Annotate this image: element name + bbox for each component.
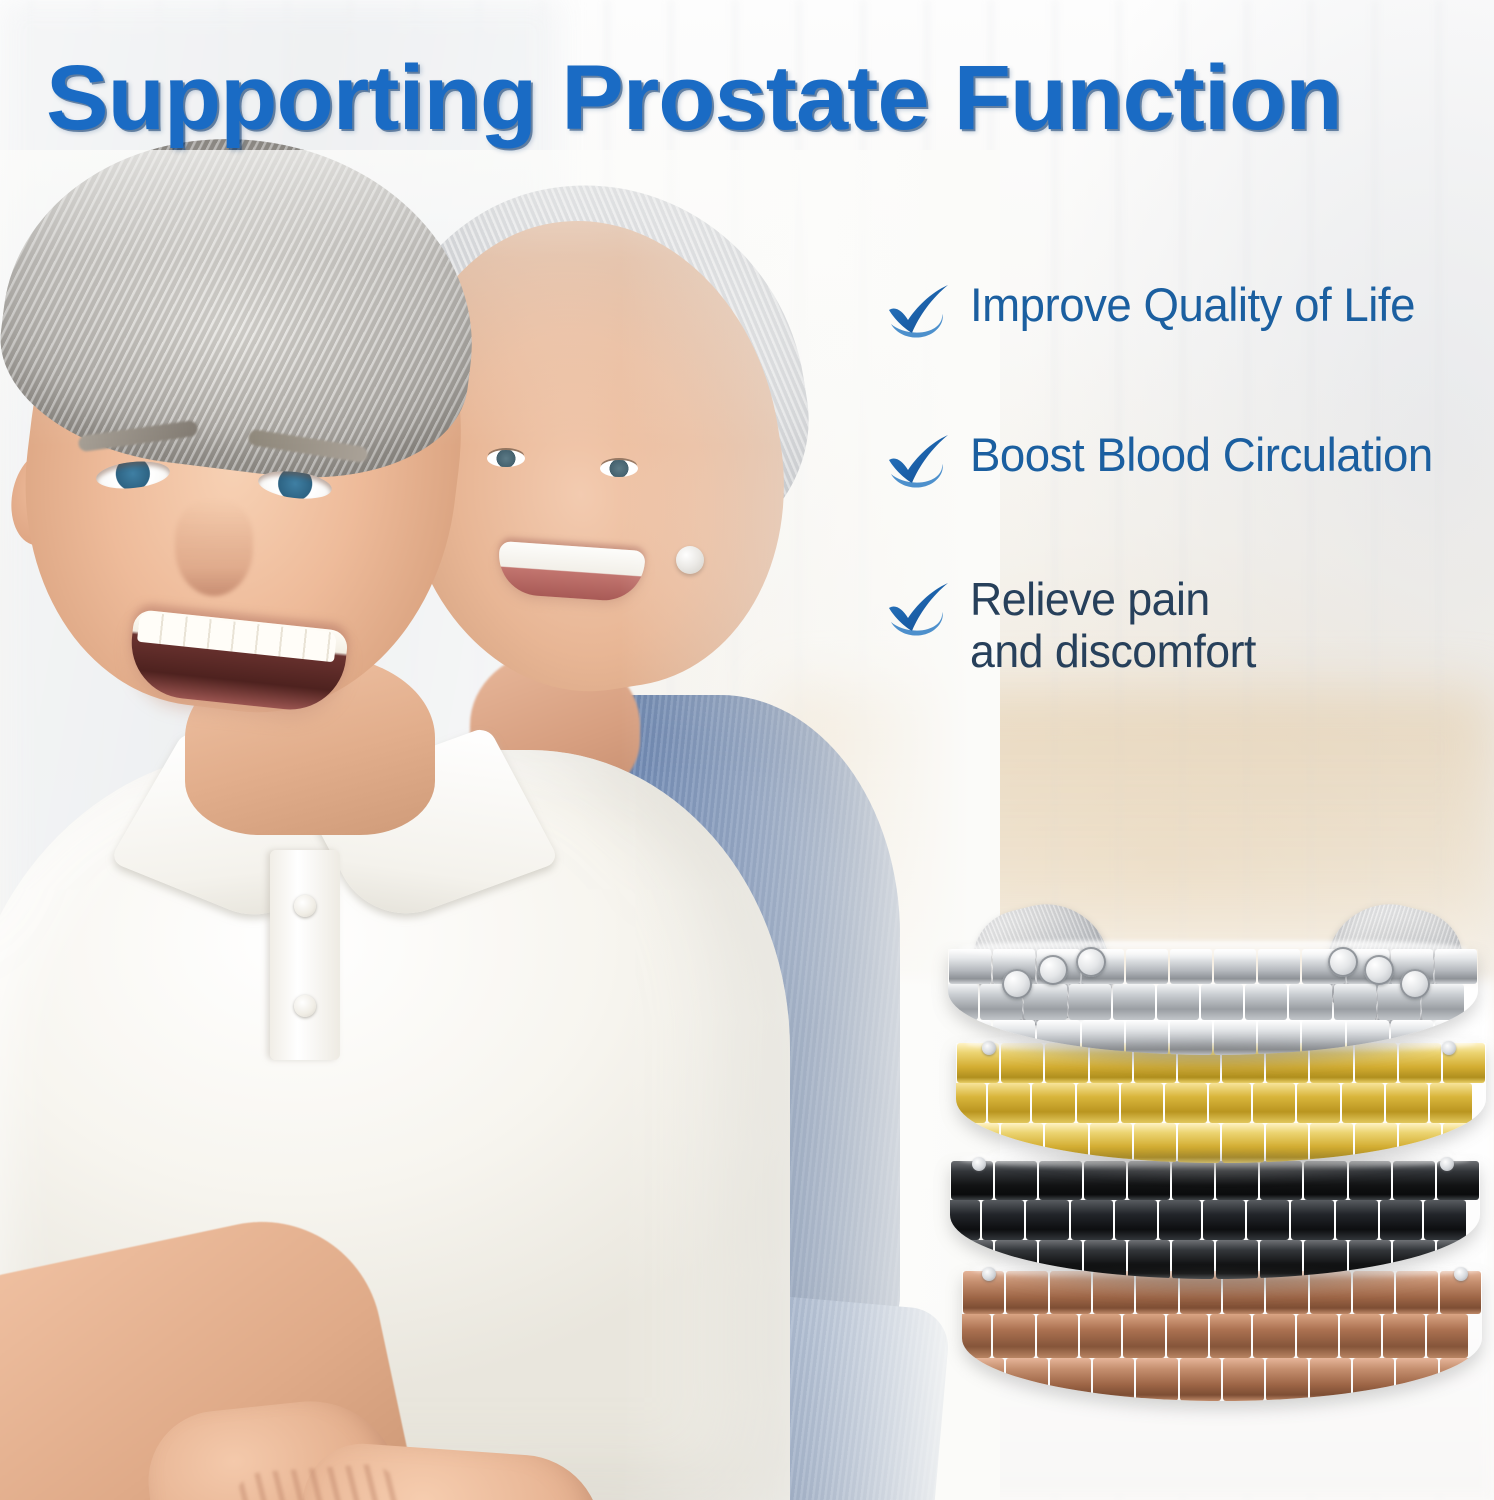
link [1336,1200,1378,1239]
link [1093,1358,1134,1401]
page-title: Supporting Prostate Function [46,52,1494,144]
man-shirt-button [294,895,316,917]
link [949,949,991,984]
man-nose [175,500,253,596]
link [1203,1200,1245,1239]
link-row [950,1200,1467,1239]
magnet-disc [1400,969,1430,999]
link-row [956,1083,1473,1123]
link [1435,949,1477,984]
link [950,1200,980,1239]
woman-eye-left [487,450,525,467]
link [1291,1200,1333,1239]
link [1032,1083,1074,1123]
drop-shadow [978,1043,1448,1069]
drop-shadow [986,1155,1456,1181]
link [1071,1200,1113,1239]
link [1201,984,1243,1019]
senior-couple-photo [0,150,980,1500]
link [1180,1358,1221,1401]
link [1165,1083,1207,1123]
benefit-label: Boost Blood Circulation [970,428,1433,480]
link [1386,1083,1428,1123]
magnet-disc [1328,947,1358,977]
link [1157,984,1199,1019]
link [1069,984,1111,1019]
link [1247,1200,1289,1239]
link [956,1083,986,1123]
check-mark-icon [886,434,960,494]
link-row [962,1358,1482,1401]
link [1297,1083,1339,1123]
benefit-item: Boost Blood Circulation [886,428,1486,494]
cuff-inner-edge [958,941,1468,957]
man-hair [0,113,494,498]
drop-shadow [980,1273,1450,1299]
link [1353,1358,1394,1401]
magnet-disc [1364,955,1394,985]
link [1334,984,1376,1019]
link [1026,1200,1068,1239]
link [1289,984,1331,1019]
link [988,1083,1030,1123]
link [1440,1358,1481,1401]
benefit-label: Improve Quality of Life [970,278,1415,330]
benefit-item: Improve Quality of Life [886,278,1486,344]
bracelet-silver [948,905,1478,1055]
link [1430,1083,1472,1123]
check-mark-icon [886,582,960,642]
link [948,984,978,1019]
benefit-item: Relieve pain and discomfort [886,572,1486,677]
link [1245,984,1287,1019]
link-row [962,1314,1469,1357]
link [1340,1314,1381,1357]
link [1380,1200,1422,1239]
link [1383,1314,1424,1357]
link [1427,1314,1468,1357]
link [1077,1083,1119,1123]
link [1050,1358,1091,1401]
link [1253,1314,1294,1357]
magnet-disc [1002,969,1032,999]
link [1342,1083,1384,1123]
woman-earring [676,546,704,574]
man-shirt-button [294,995,316,1017]
link [1123,1314,1164,1357]
link [1223,1358,1264,1401]
link [963,1358,1004,1401]
link [1297,1314,1338,1357]
link [1136,1358,1177,1401]
link [1167,1314,1208,1357]
link [1006,1358,1047,1401]
man-shirt-placket [270,850,340,1060]
link [1396,1358,1437,1401]
link [982,1200,1024,1239]
link [1310,1358,1351,1401]
link [993,1314,1034,1357]
benefit-list: Improve Quality of Life Boost Blood [886,278,1486,677]
link [1266,1358,1307,1401]
link-strap-silver [948,949,1478,1055]
link [1113,984,1155,1019]
link [1210,1314,1251,1357]
benefit-label: Relieve pain and discomfort [970,572,1256,677]
link [1121,1083,1163,1123]
link [1253,1083,1295,1123]
link [1080,1314,1121,1357]
link [962,1314,991,1357]
link [1209,1083,1251,1123]
product-bracelet-stack [948,905,1494,1500]
magnet-disc [1038,955,1068,985]
magnet-disc [1076,947,1106,977]
link [1115,1200,1157,1239]
product-marketing-image: Supporting Prostate Function Impro [0,0,1494,1500]
check-mark-icon [886,284,960,344]
woman-eye-right [600,460,638,477]
link [1159,1200,1201,1239]
link [1424,1200,1466,1239]
link [1037,1314,1078,1357]
